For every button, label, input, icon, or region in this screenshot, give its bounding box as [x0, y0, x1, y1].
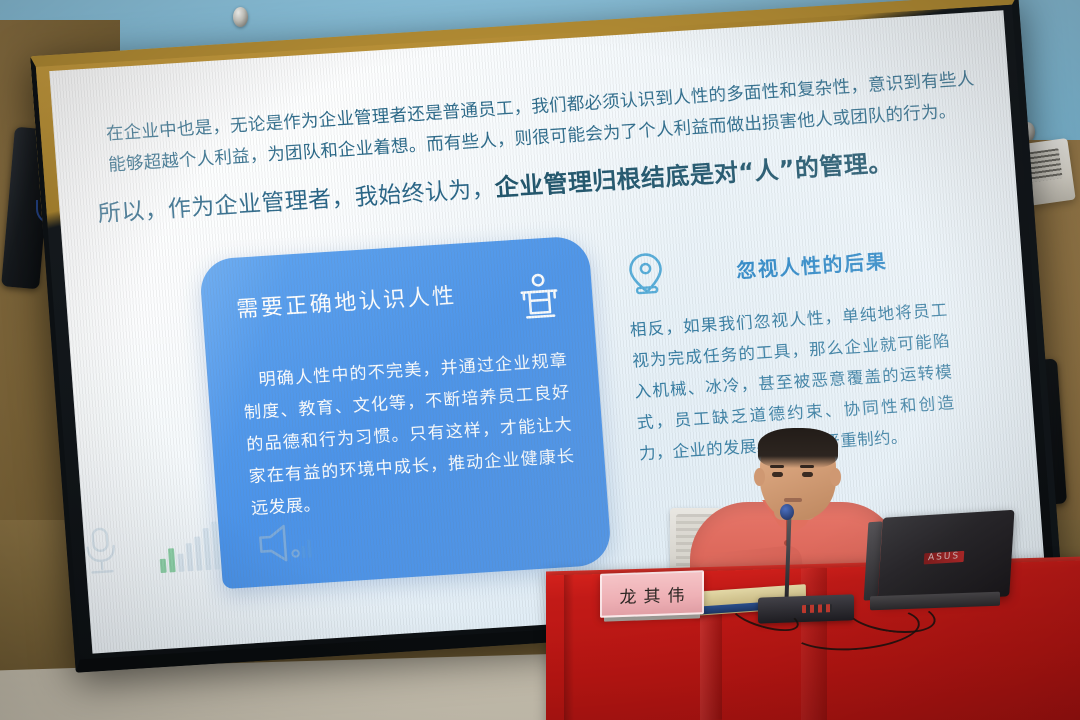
- nameplate: 龙其伟: [600, 570, 704, 618]
- eye-right: [802, 472, 813, 477]
- blue-card-title: 需要正确地认识人性: [235, 278, 457, 324]
- microphone-capsule: [780, 504, 794, 520]
- spotlight-1: [233, 7, 248, 27]
- blue-card-body: 明确人性中的不完美，并通过企业规章制度、教育、文化等，不断培养员工良好的品德和行…: [241, 345, 578, 525]
- eyebrow-left: [770, 465, 784, 468]
- presenter-hair: [758, 428, 838, 468]
- bar-chart-icon: [157, 521, 220, 573]
- volume-speaker-icon: [253, 519, 316, 567]
- eye-left: [772, 472, 783, 477]
- laptop-brand-logo: ASUS: [924, 551, 965, 565]
- laptop[interactable]: ASUS: [877, 510, 1014, 605]
- ear-left: [754, 468, 765, 486]
- slide-lead-normal: 所以，作为企业管理者，我始终认为，: [97, 176, 496, 227]
- blue-card-header: 需要正确地认识人性: [235, 271, 564, 340]
- nameplate-text: 龙其伟: [613, 580, 692, 608]
- slide-lead-bold: 企业管理归根结底是对“人”的管理。: [494, 149, 894, 202]
- podium-icon: [515, 271, 564, 322]
- location-pin-icon: [624, 250, 667, 298]
- mouth: [784, 498, 802, 502]
- right-block-title: 忽视人性的后果: [679, 241, 945, 287]
- right-block-header: 忽视人性的后果: [624, 233, 945, 299]
- eyebrow-right: [800, 465, 814, 468]
- ear-right: [830, 468, 841, 486]
- presentation-scene: 在企业中也是，无论是作为企业管理者还是普通员工，我们都必须认识到人性的多面性和复…: [0, 0, 1080, 720]
